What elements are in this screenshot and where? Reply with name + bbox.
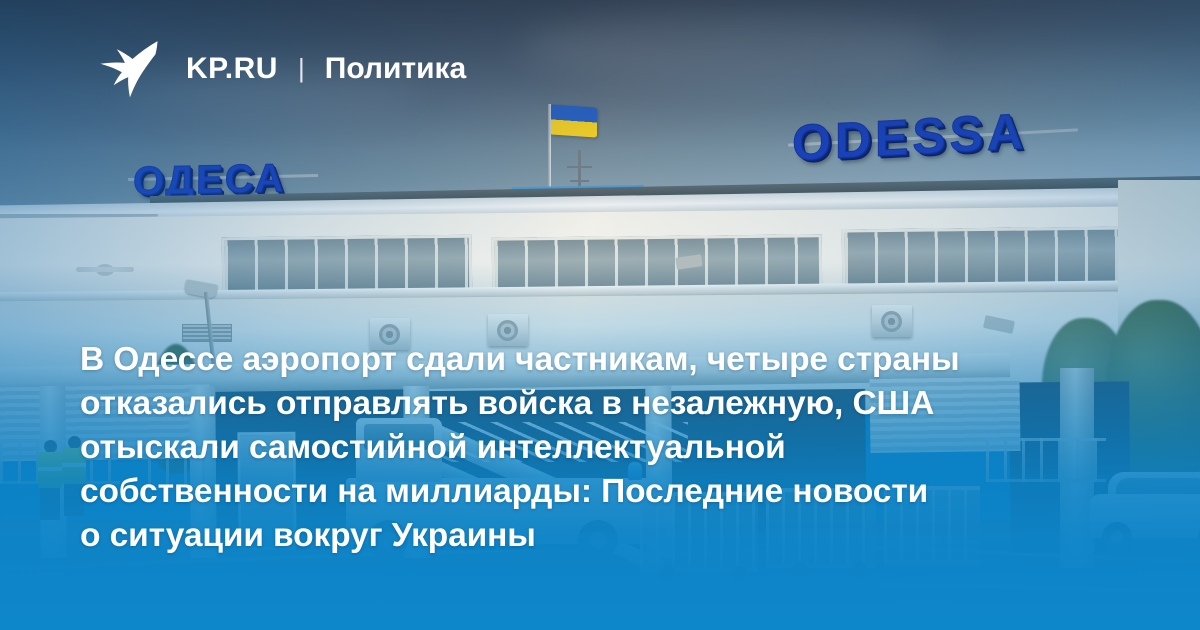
headline-line: собственности на миллиарды: Последние но… (80, 470, 1120, 514)
headline-line: В Одессе аэропорт сдали частникам, четыр… (80, 338, 1120, 382)
headline[interactable]: В Одессе аэропорт сдали частникам, четыр… (80, 338, 1120, 558)
headline-line: отказались отправлять войска в незалежну… (80, 382, 1120, 426)
brand-name: KP.RU (186, 54, 278, 84)
headline-line: отыскали самостийной интеллектуальной (80, 426, 1120, 470)
swallow-bird-logo-icon (98, 40, 160, 98)
social-share-card: ОДЕСА ODESSA (0, 0, 1200, 630)
brand-bar[interactable]: KP.RU | Политика (98, 40, 466, 98)
brand-separator: | (298, 55, 305, 81)
section-label-politics[interactable]: Политика (325, 54, 466, 84)
headline-line: о ситуации вокруг Украины (80, 514, 1120, 558)
